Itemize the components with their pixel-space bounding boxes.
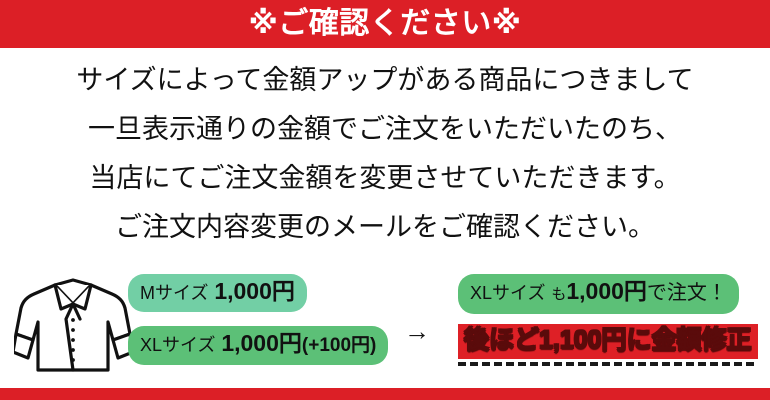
order-label-xl: XLサイズ も1,000円で注文！ — [458, 274, 739, 314]
surcharge-text-xl: (+100円) — [302, 335, 376, 356]
correction-text: 後ほど1,100円に金額修正 — [464, 325, 752, 356]
notice-body: サイズによって金額アップがある商品につきまして 一旦表示通りの金額でご注文をいた… — [0, 56, 770, 252]
order-tail-text: で注文！ — [647, 282, 727, 304]
size-text-m: Mサイズ — [140, 283, 208, 303]
amount-text-m: 1,000円 — [214, 278, 295, 304]
correction-highlight: 後ほど1,100円に金額修正 — [458, 324, 758, 359]
notice-line-1: サイズによって金額アップがある商品につきまして — [0, 56, 770, 105]
notice-line-2: 一旦表示通りの金額でご注文をいただいたのち、 — [0, 105, 770, 154]
order-size-text: XLサイズ — [470, 283, 545, 303]
header-bar: ※ご確認ください※ — [0, 0, 770, 48]
order-amount-text: 1,000円 — [566, 278, 647, 304]
header-title: ※ご確認ください※ — [249, 9, 522, 39]
before-prices: Mサイズ 1,000円 XLサイズ 1,000円(+100円) — [128, 274, 388, 365]
footer-bar — [0, 388, 770, 400]
amount-text-xl: 1,000円 — [221, 330, 302, 356]
after-prices: XLサイズ も1,000円で注文！ 後ほど1,100円に金額修正 — [458, 274, 758, 366]
notice-banner: ※ご確認ください※ サイズによって金額アップがある商品につきまして 一旦表示通り… — [0, 0, 770, 400]
notice-line-3: 当店にてご注文金額を変更させていただきます。 — [0, 154, 770, 203]
price-label-m: Mサイズ 1,000円 — [128, 274, 307, 312]
notice-line-4: ご注文内容変更のメールをご確認ください。 — [0, 203, 770, 252]
arrow-right-icon: → — [404, 318, 430, 344]
price-comparison: Mサイズ 1,000円 XLサイズ 1,000円(+100円) → XLサイズ … — [0, 266, 770, 378]
dashed-underline — [458, 362, 754, 366]
dress-shirt-icon — [14, 270, 132, 374]
price-label-xl: XLサイズ 1,000円(+100円) — [128, 326, 388, 365]
size-text-xl: XLサイズ — [140, 335, 215, 355]
pill-spacer — [128, 312, 388, 326]
order-particle-text: も — [551, 286, 566, 303]
